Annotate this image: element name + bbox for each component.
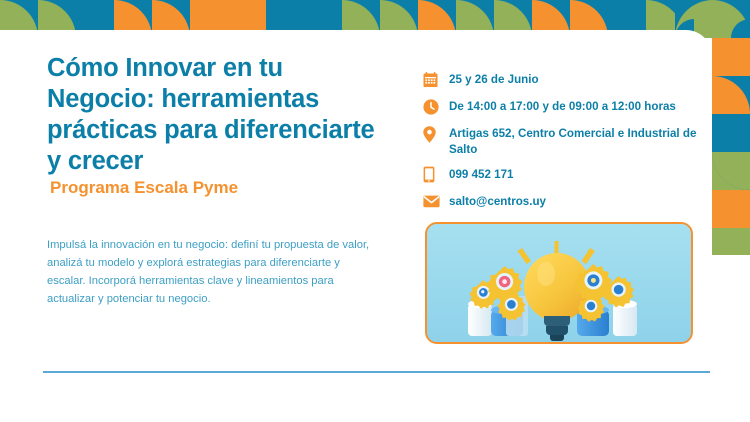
info-row-address: Artigas 652, Centro Comercial e Industri… [423,124,713,158]
info-row-phone: 099 452 171 [423,165,713,185]
clock-icon [423,97,449,117]
event-info-list: 25 y 26 de Junio De 14:00 a 17:00 y de 0… [423,70,713,219]
calendar-icon [423,70,449,90]
info-text-email: salto@centros.uy [449,192,546,210]
info-text-time: De 14:00 a 17:00 y de 09:00 a 12:00 hora… [449,97,676,115]
info-row-time: De 14:00 a 17:00 y de 09:00 a 12:00 hora… [423,97,713,117]
event-illustration [425,222,693,344]
info-text-phone: 099 452 171 [449,165,513,183]
envelope-icon [423,192,449,212]
description-paragraph: Impulsá la innovación en tu negocio: def… [47,236,377,309]
info-text-address: Artigas 652, Centro Comercial e Industri… [449,124,713,158]
footer-logos: A Ñ O S Agencia Nacional de Desarrollo C… [0,376,750,422]
program-subtitle: Programa Escala Pyme [50,178,238,198]
poster-canvas: Cómo Innovar en tu Negocio: herramientas… [0,0,750,422]
page-title: Cómo Innovar en tu Negocio: herramientas… [47,53,387,177]
mobile-phone-icon [423,165,449,185]
location-pin-icon [423,124,449,144]
poster-content: Cómo Innovar en tu Negocio: herramientas… [0,0,750,422]
lightbulb-gears-illustration [427,224,691,342]
info-text-date: 25 y 26 de Junio [449,70,539,88]
info-row-date: 25 y 26 de Junio [423,70,713,90]
info-row-email: salto@centros.uy [423,192,713,212]
footer-divider [43,371,710,373]
